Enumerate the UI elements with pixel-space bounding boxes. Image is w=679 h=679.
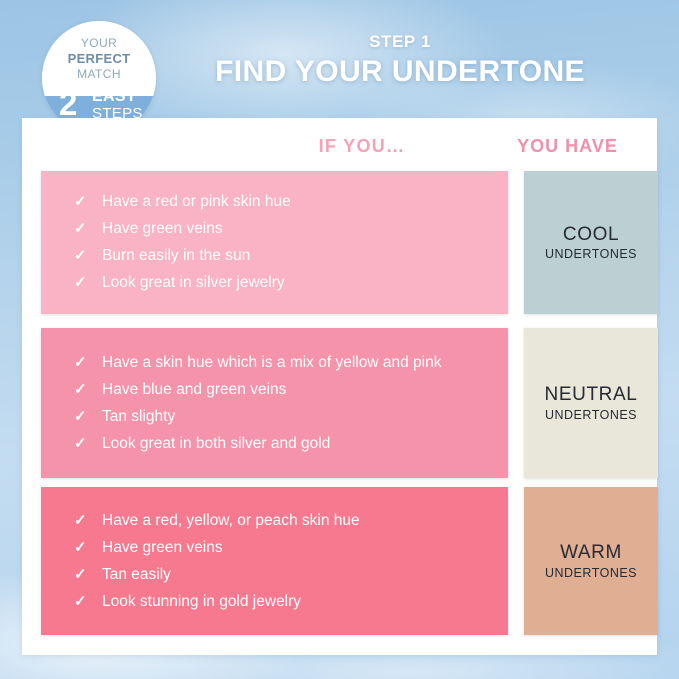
list-item-label: Have blue and green veins	[102, 379, 494, 401]
list-item-label: Burn easily in the sun	[102, 245, 494, 267]
undertone-row-neutral: ✓ Have a skin hue which is a mix of yell…	[41, 328, 641, 478]
check-icon: ✓	[74, 218, 102, 239]
list-item-label: Look great in both silver and gold	[102, 433, 494, 455]
swatch-subtitle: UNDERTONES	[545, 565, 637, 581]
criteria-block-neutral: ✓ Have a skin hue which is a mix of yell…	[41, 328, 508, 478]
swatch-title: COOL	[563, 223, 619, 247]
check-icon: ✓	[74, 510, 102, 531]
list-item: ✓ Have blue and green veins	[74, 376, 494, 403]
list-item: ✓ Have a red or pink skin hue	[74, 189, 494, 216]
list-item-label: Tan easily	[102, 564, 494, 586]
list-item-label: Have green veins	[102, 218, 494, 240]
list-item: ✓ Tan slighty	[74, 403, 494, 430]
page-title: FIND YOUR UNDERTONE	[175, 55, 625, 89]
list-item: ✓ Have a red, yellow, or peach skin hue	[74, 507, 494, 534]
undertone-row-cool: ✓ Have a red or pink skin hue ✓ Have gre…	[41, 171, 641, 314]
swatch-cool: COOL UNDERTONES	[524, 171, 658, 314]
check-icon: ✓	[74, 433, 102, 454]
swatch-subtitle: UNDERTONES	[545, 407, 637, 423]
check-icon: ✓	[74, 591, 102, 612]
list-item-label: Have a red or pink skin hue	[102, 191, 494, 213]
check-icon: ✓	[74, 537, 102, 558]
criteria-block-warm: ✓ Have a red, yellow, or peach skin hue …	[41, 487, 508, 635]
list-item: ✓ Look great in both silver and gold	[74, 430, 494, 457]
badge-line-perfect: PERFECT	[42, 51, 156, 66]
badge-line-match: MATCH	[42, 67, 156, 81]
swatch-warm: WARM UNDERTONES	[524, 487, 658, 635]
list-item-label: Have a skin hue which is a mix of yellow…	[102, 352, 494, 374]
check-icon: ✓	[74, 379, 102, 400]
infographic-canvas: YOUR PERFECT MATCH 2 EASY STEPS STEP 1 F…	[0, 0, 679, 679]
list-item: ✓ Have a skin hue which is a mix of yell…	[74, 349, 494, 376]
list-item: ✓ Have green veins	[74, 534, 494, 561]
swatch-neutral: NEUTRAL UNDERTONES	[524, 328, 658, 478]
list-item-label: Look stunning in gold jewelry	[102, 591, 494, 613]
undertone-row-warm: ✓ Have a red, yellow, or peach skin hue …	[41, 487, 641, 635]
check-icon: ✓	[74, 352, 102, 373]
swatch-title: NEUTRAL	[545, 383, 638, 407]
content-card: IF YOU… YOU HAVE ✓ Have a red or pink sk…	[22, 118, 657, 655]
check-icon: ✓	[74, 191, 102, 212]
swatch-subtitle: UNDERTONES	[545, 246, 637, 262]
badge-step-count: 2	[59, 87, 77, 120]
badge-line-your: YOUR	[42, 36, 156, 50]
list-item-label: Have green veins	[102, 537, 494, 559]
check-icon: ✓	[74, 272, 102, 293]
list-item-label: Tan slighty	[102, 406, 494, 428]
list-item-label: Have a red, yellow, or peach skin hue	[102, 510, 494, 532]
list-item-label: Look great in silver jewelry	[102, 272, 494, 294]
step-label: STEP 1	[180, 32, 620, 52]
check-icon: ✓	[74, 564, 102, 585]
check-icon: ✓	[74, 245, 102, 266]
list-item: ✓ Have green veins	[74, 216, 494, 243]
swatch-title: WARM	[560, 541, 622, 565]
list-item: ✓ Burn easily in the sun	[74, 243, 494, 270]
check-icon: ✓	[74, 406, 102, 427]
column-header-if-you: IF YOU…	[217, 136, 507, 157]
column-header-you-have: YOU HAVE	[500, 136, 635, 157]
list-item: ✓ Look great in silver jewelry	[74, 270, 494, 297]
badge-line-easy: EASY	[92, 89, 137, 105]
list-item: ✓ Look stunning in gold jewelry	[74, 588, 494, 615]
list-item: ✓ Tan easily	[74, 561, 494, 588]
criteria-block-cool: ✓ Have a red or pink skin hue ✓ Have gre…	[41, 171, 508, 314]
